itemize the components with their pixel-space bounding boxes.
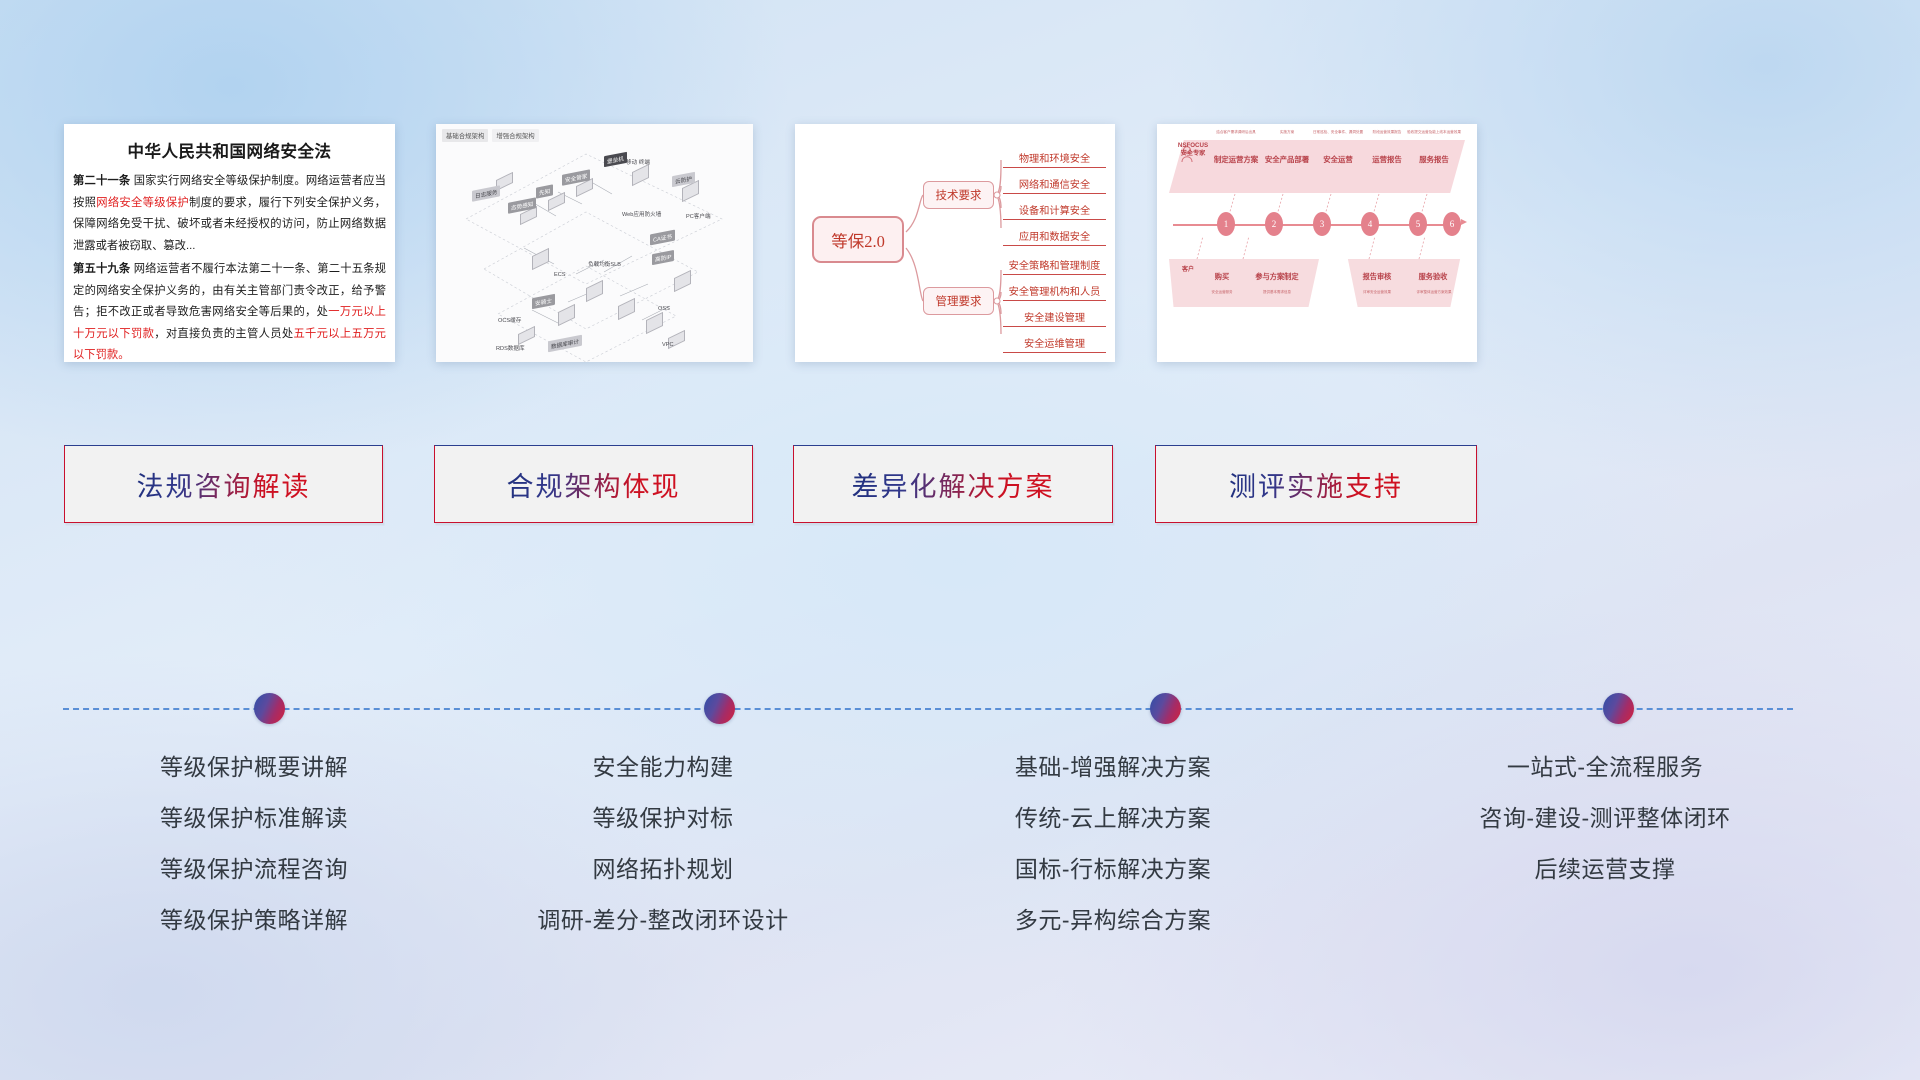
top-step-5-sub: 验收提交运营及能上线本运营效果 bbox=[1407, 130, 1461, 135]
list-item: 等级保护概要讲解 bbox=[64, 742, 444, 793]
list-item: 安全能力构建 bbox=[473, 742, 853, 793]
article-21-highlight: 网络安全等级保护 bbox=[96, 197, 189, 209]
bottom-step-1-sub: 安全运营服务 bbox=[1201, 290, 1243, 295]
list-item: 传统-云上解决方案 bbox=[923, 793, 1303, 844]
top-step-4-sub: 阶段运营效果报告 bbox=[1360, 130, 1414, 135]
card-mindmap-dengbao: 等保2.0 技术要求 管理要求 物理和环境安全 网络和通信安全 设备和计算安全 … bbox=[795, 124, 1115, 362]
bottom-step-4-main: 服务验收 bbox=[1409, 272, 1457, 282]
title-box-differentiated-solution[interactable]: 差异化解决方案 bbox=[793, 445, 1113, 523]
expert-brand: NSFOCUS bbox=[1171, 142, 1215, 150]
section-title-row: 法规咨询解读 合规架构体现 差异化解决方案 测评实施支持 bbox=[0, 445, 1920, 523]
title-box-assessment-support[interactable]: 测评实施支持 bbox=[1155, 445, 1477, 523]
top-step-1-sub: 结合客户需求调研后出具 bbox=[1209, 130, 1263, 135]
list-item: 一站式-全流程服务 bbox=[1370, 742, 1840, 793]
title-label-4: 测评实施支持 bbox=[1229, 465, 1403, 504]
arch-node-ecs: ECS bbox=[554, 272, 566, 278]
bottom-step-4-sub: 评审整体运营方案效果 bbox=[1405, 290, 1463, 295]
title-box-regulation-consulting[interactable]: 法规咨询解读 bbox=[64, 445, 383, 523]
timeline-dashed-line bbox=[63, 708, 1793, 710]
top-step-1-main: 制定运营方案 bbox=[1209, 154, 1263, 165]
list-item: 调研-差分-整改闭环设计 bbox=[473, 895, 853, 946]
mindmap-leaf-physical: 物理和环境安全 bbox=[1003, 150, 1106, 168]
top-step-3-main: 安全运营 bbox=[1311, 154, 1365, 165]
top-step-2-sub: 实施方案 bbox=[1260, 130, 1314, 135]
mindmap: 等保2.0 技术要求 管理要求 物理和环境安全 网络和通信安全 设备和计算安全 … bbox=[795, 124, 1115, 362]
list-item: 等级保护流程咨询 bbox=[64, 844, 444, 895]
top-step-2-main: 安全产品部署 bbox=[1260, 154, 1314, 165]
title-label-1: 法规咨询解读 bbox=[137, 465, 311, 504]
bottom-step-3-main: 报告审核 bbox=[1353, 272, 1401, 282]
arch-node-slb: 负载均衡SLB bbox=[588, 260, 621, 268]
timeline-node-1: 1 bbox=[1217, 212, 1235, 236]
reference-cards-row: 中华人民共和国网络安全法 第二十一条 国家实行网络安全等级保护制度。网络运营者应… bbox=[0, 124, 1920, 362]
architecture-diagram: 基础合规架构 增强合规架构 bbox=[436, 124, 753, 362]
list-item: 网络拓扑规划 bbox=[473, 844, 853, 895]
law-article-59: 第五十九条 网络运营者不履行本法第二十一条、第二十五条规定的网络安全保护义务的，… bbox=[73, 259, 386, 362]
architecture-connections bbox=[436, 124, 753, 362]
bottom-step-2-sub: 提供基本需求信息 bbox=[1247, 290, 1307, 295]
timeline-marker-2 bbox=[704, 693, 735, 724]
list-item: 基础-增强解决方案 bbox=[923, 742, 1303, 793]
law-body: 第二十一条 国家实行网络安全等级保护制度。网络运营者应当按照网络安全等级保护制度… bbox=[64, 171, 395, 362]
title-label-2: 合规架构体现 bbox=[507, 465, 681, 504]
timeline-node-2: 2 bbox=[1265, 212, 1283, 236]
detail-list-assessment: 一站式-全流程服务 咨询-建设-测评整体闭环 后续运营支撑 bbox=[1370, 742, 1840, 895]
detail-list-architecture: 安全能力构建 等级保护对标 网络拓扑规划 调研-差分-整改闭环设计 bbox=[473, 742, 853, 946]
timeline-marker-1 bbox=[254, 693, 285, 724]
arch-node-oss: OSS bbox=[658, 306, 670, 312]
timeline-customer-label: 客户 bbox=[1175, 264, 1201, 273]
detail-lists-row: 等级保护概要讲解 等级保护标准解读 等级保护流程咨询 等级保护策略详解 安全能力… bbox=[0, 742, 1920, 952]
mindmap-core-node: 等保2.0 bbox=[812, 216, 904, 263]
service-timeline: NSFOCUS 安全专家 结合客户需求调研后出具 制定运营方案 实施方案 安全产… bbox=[1157, 124, 1477, 362]
arch-node-pc: PC客户端 bbox=[686, 212, 711, 220]
mindmap-leaf-application: 应用和数据安全 bbox=[1003, 228, 1106, 246]
top-step-3-sub: 日常巡检、安全事件、漏洞处置 bbox=[1311, 130, 1365, 135]
card-cybersecurity-law: 中华人民共和国网络安全法 第二十一条 国家实行网络安全等级保护制度。网络运营者应… bbox=[64, 124, 395, 362]
list-item: 等级保护标准解读 bbox=[64, 793, 444, 844]
mindmap-leaf-construction: 安全建设管理 bbox=[1003, 309, 1106, 327]
mindmap-leaf-network: 网络和通信安全 bbox=[1003, 176, 1106, 194]
timeline-node-3: 3 bbox=[1313, 212, 1331, 236]
bottom-step-2-main: 参与方案制定 bbox=[1247, 272, 1307, 282]
detail-list-solution: 基础-增强解决方案 传统-云上解决方案 国标-行标解决方案 多元-异构综合方案 bbox=[923, 742, 1303, 946]
mindmap-leaf-policy: 安全策略和管理制度 bbox=[1003, 257, 1106, 275]
list-item: 等级保护策略详解 bbox=[64, 895, 444, 946]
arch-node-mobile: 移动 终端 bbox=[626, 158, 650, 166]
mindmap-branch-management: 管理要求 bbox=[923, 287, 994, 315]
list-item: 后续运营支撑 bbox=[1370, 844, 1840, 895]
arch-node-waf: Web应用防火墙 bbox=[622, 210, 661, 218]
process-timeline bbox=[0, 688, 1920, 732]
mindmap-leaf-operation: 安全运维管理 bbox=[1003, 335, 1106, 353]
arch-node-rds: RDS数据库 bbox=[496, 344, 525, 352]
article-59-text-b: ，对直接负责的主管人员处 bbox=[154, 328, 293, 340]
timeline-marker-4 bbox=[1603, 693, 1634, 724]
timeline-node-5: 5 bbox=[1409, 212, 1427, 236]
article-59-label: 第五十九条 bbox=[73, 263, 130, 275]
list-item: 咨询-建设-测评整体闭环 bbox=[1370, 793, 1840, 844]
article-21-label: 第二十一条 bbox=[73, 175, 130, 187]
timeline-node-4: 4 bbox=[1361, 212, 1379, 236]
title-label-3: 差异化解决方案 bbox=[852, 465, 1055, 504]
mindmap-branch-technical: 技术要求 bbox=[923, 181, 994, 209]
timeline-node-6: 6 bbox=[1443, 212, 1461, 236]
mindmap-leaf-device: 设备和计算安全 bbox=[1003, 202, 1106, 220]
card-compliance-architecture: 基础合规架构 增强合规架构 bbox=[436, 124, 753, 362]
mindmap-leaf-org: 安全管理机构和人员 bbox=[1003, 283, 1106, 301]
law-article-21: 第二十一条 国家实行网络安全等级保护制度。网络运营者应当按照网络安全等级保护制度… bbox=[73, 171, 386, 257]
arch-node-vpc: VPC bbox=[662, 342, 674, 348]
law-title: 中华人民共和国网络安全法 bbox=[64, 138, 395, 162]
list-item: 国标-行标解决方案 bbox=[923, 844, 1303, 895]
arch-node-ocs: OCS缓存 bbox=[498, 316, 521, 324]
bottom-step-3-sub: 评审安全运营效果 bbox=[1349, 290, 1405, 295]
list-item: 等级保护对标 bbox=[473, 793, 853, 844]
bottom-step-1-main: 购买 bbox=[1205, 272, 1239, 282]
timeline-bottom-band-right bbox=[1343, 259, 1465, 307]
timeline-marker-3 bbox=[1150, 693, 1181, 724]
list-item: 多元-异构综合方案 bbox=[923, 895, 1303, 946]
card-nsfocus-service-timeline: NSFOCUS 安全专家 结合客户需求调研后出具 制定运营方案 实施方案 安全产… bbox=[1157, 124, 1477, 362]
top-step-4-main: 运营报告 bbox=[1360, 154, 1414, 165]
title-box-compliance-architecture[interactable]: 合规架构体现 bbox=[434, 445, 753, 523]
detail-list-regulation: 等级保护概要讲解 等级保护标准解读 等级保护流程咨询 等级保护策略详解 bbox=[64, 742, 444, 946]
top-step-5-main: 服务报告 bbox=[1407, 154, 1461, 165]
